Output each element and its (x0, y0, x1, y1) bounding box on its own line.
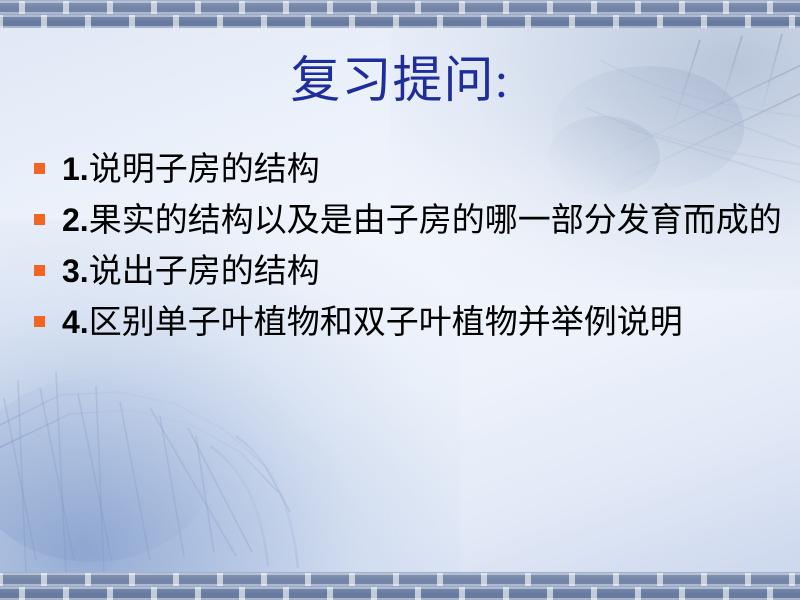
list-item: 4.区别单子叶植物和双子叶植物并举例说明 (26, 299, 782, 346)
square-bullet-icon (34, 214, 45, 225)
square-bullet-icon (34, 265, 45, 276)
top-brick-border (0, 0, 800, 28)
brick-row (0, 1, 800, 14)
list-item-label: 果实的结构以及是由子房的哪一部分发育而成的 (89, 203, 782, 239)
list-item: 2.果实的结构以及是由子房的哪一部分发育而成的 (26, 197, 782, 244)
brick-row (0, 15, 800, 28)
list-item-number: 3. (62, 253, 89, 289)
list-item-number: 1. (62, 151, 89, 187)
slide-title: 复习提问: (0, 53, 800, 107)
slide-content: 复习提问: 1.说明子房的结构 2.果实的结构以及是由子房的哪一部分发育而成的 … (0, 28, 800, 572)
brick-row (0, 587, 800, 600)
list-item-label: 区别单子叶植物和双子叶植物并举例说明 (89, 305, 683, 341)
list-item-label: 说明子房的结构 (89, 152, 320, 188)
brick-row (0, 573, 800, 586)
square-bullet-icon (34, 163, 45, 174)
presentation-slide: 复习提问: 1.说明子房的结构 2.果实的结构以及是由子房的哪一部分发育而成的 … (0, 0, 800, 600)
bottom-brick-border (0, 572, 800, 600)
list-item-number: 2. (62, 202, 89, 238)
list-item: 3.说出子房的结构 (26, 248, 782, 295)
list-item: 1.说明子房的结构 (26, 146, 782, 193)
list-item-number: 4. (62, 304, 89, 340)
question-list: 1.说明子房的结构 2.果实的结构以及是由子房的哪一部分发育而成的 3.说出子房… (26, 146, 782, 350)
square-bullet-icon (34, 316, 45, 327)
list-item-label: 说出子房的结构 (89, 254, 320, 290)
